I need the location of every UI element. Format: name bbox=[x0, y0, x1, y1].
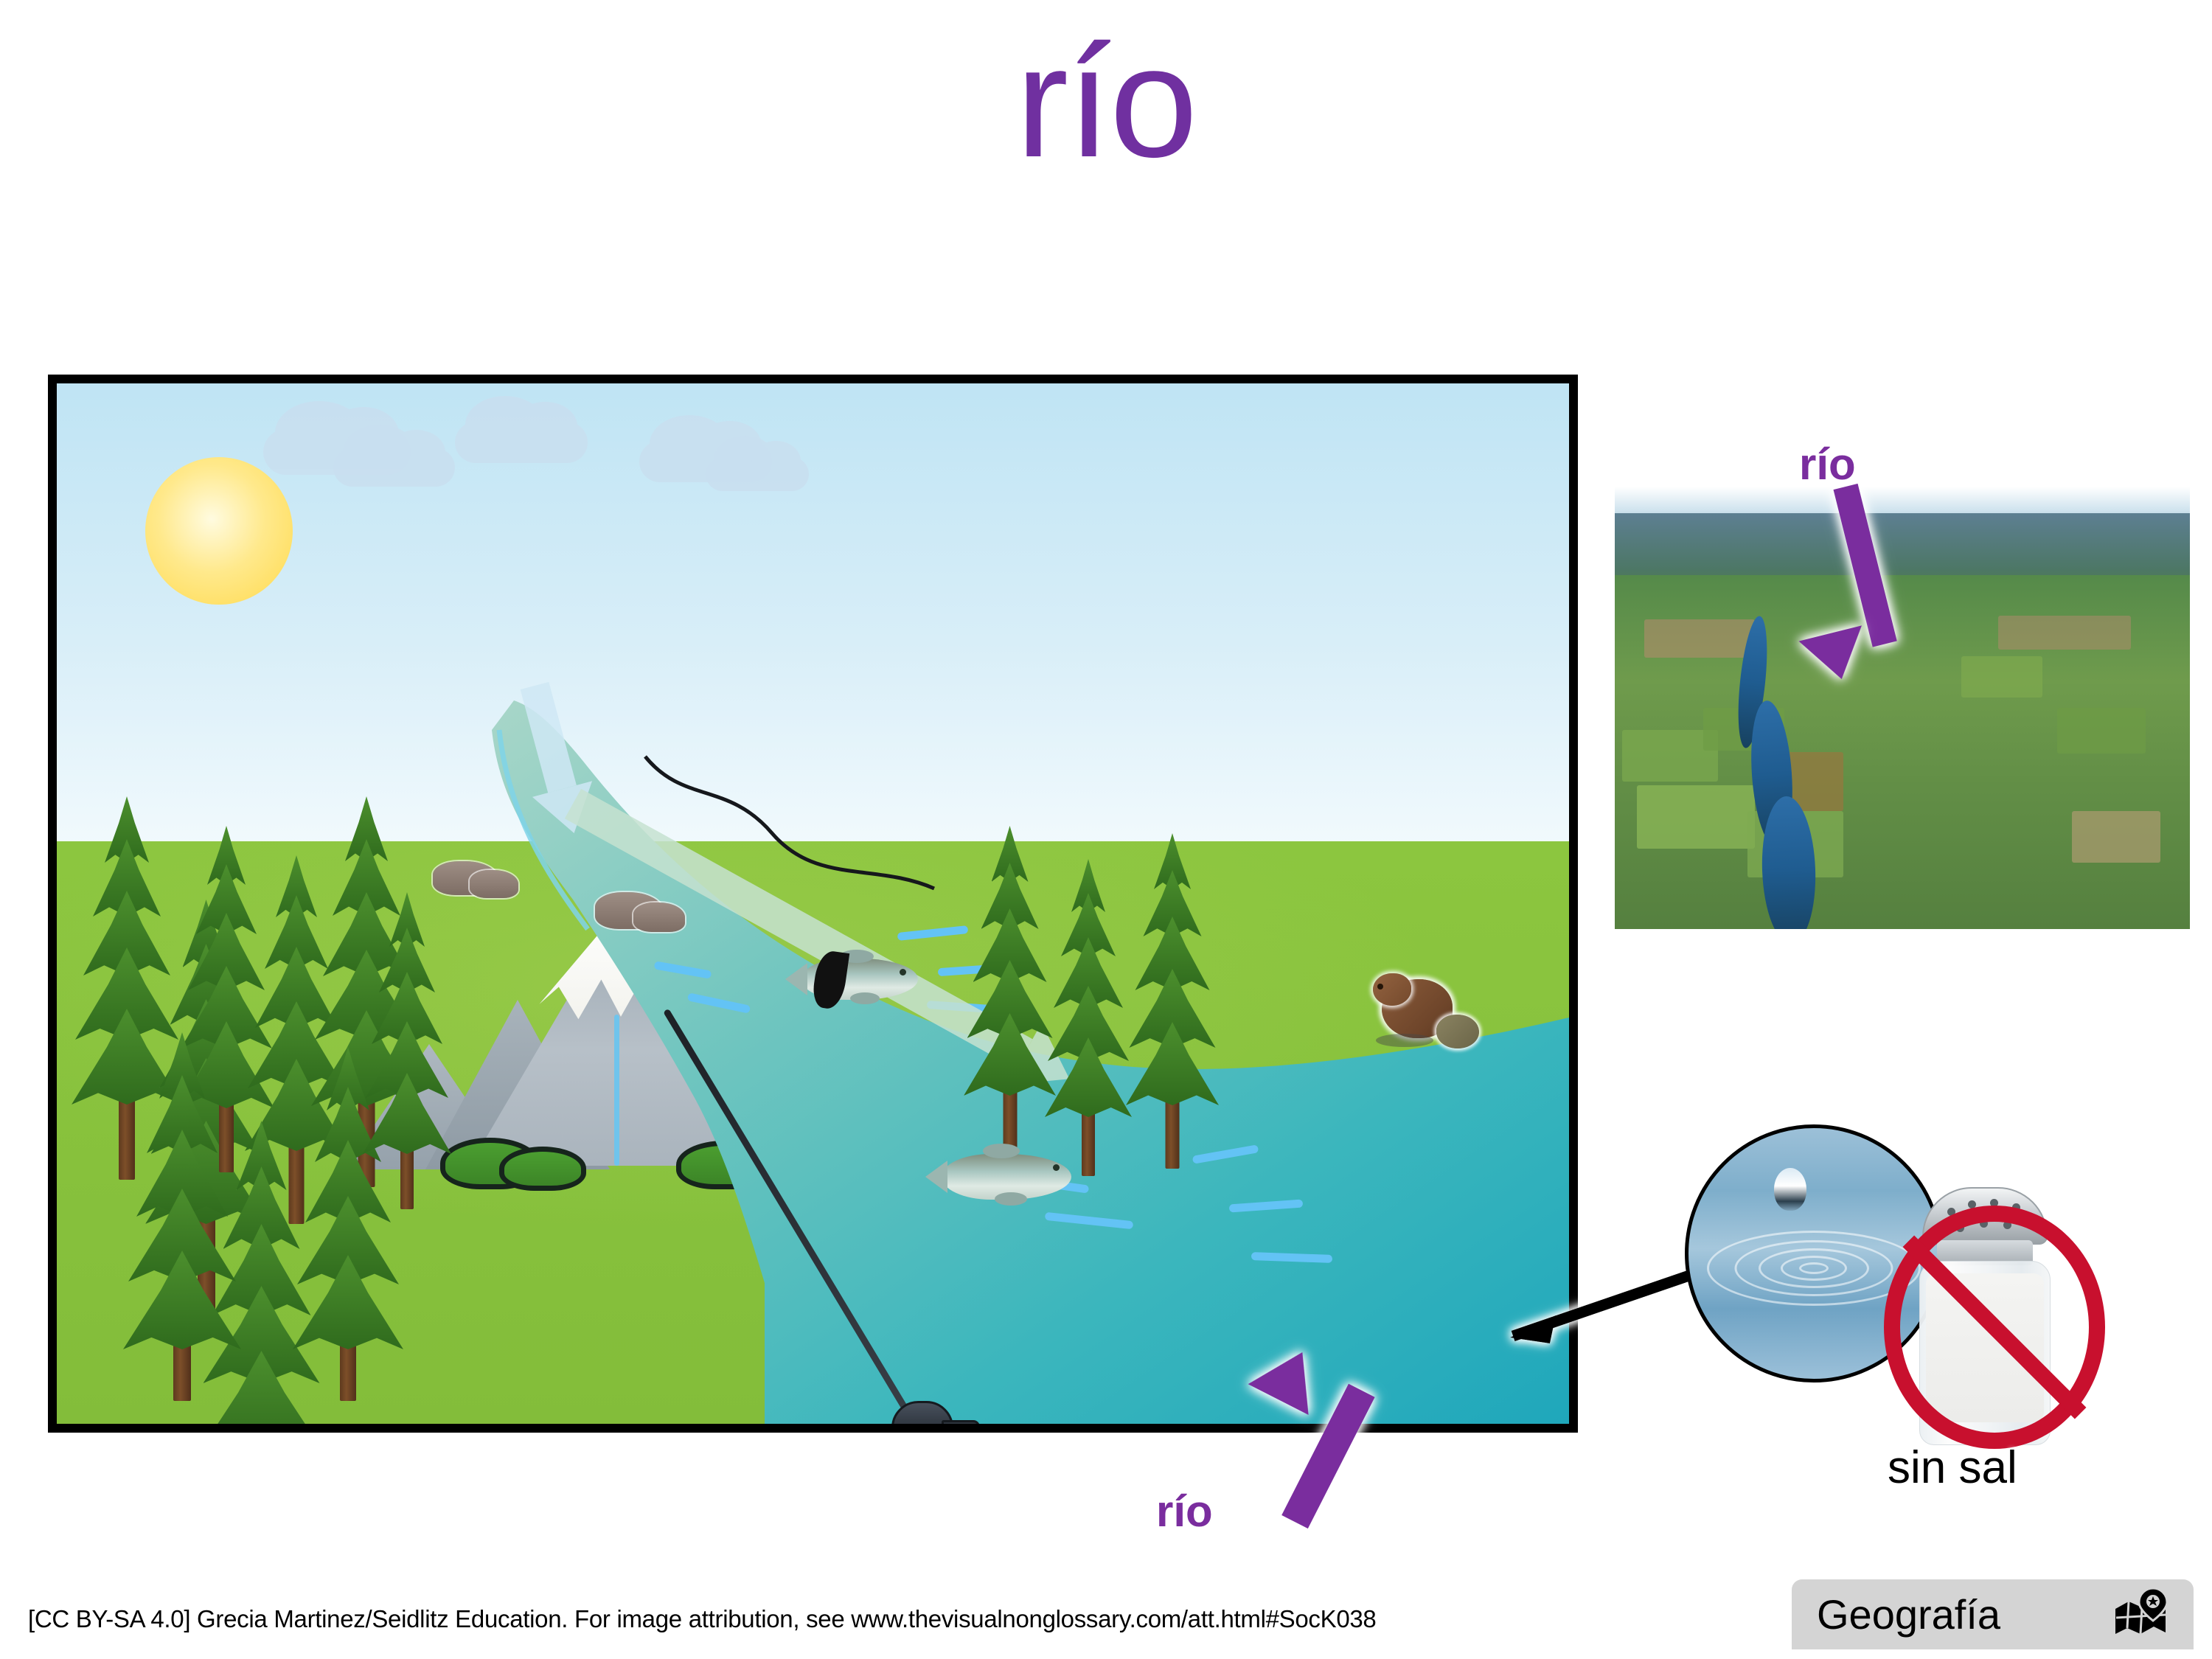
field-patch bbox=[2072, 811, 2160, 863]
page-title: río bbox=[0, 22, 2212, 181]
water-droplet bbox=[1774, 1168, 1806, 1211]
beaver bbox=[1366, 966, 1480, 1054]
bush bbox=[499, 1147, 586, 1191]
mountain-stream bbox=[614, 1015, 619, 1166]
fish-fin bbox=[983, 1144, 1020, 1158]
fish-fin bbox=[995, 1192, 1027, 1206]
village-cluster bbox=[1998, 616, 2131, 650]
sin-sal-label: sin sal bbox=[1888, 1441, 2017, 1494]
sun-core bbox=[145, 457, 293, 605]
category-badge: Geografía bbox=[1792, 1579, 2194, 1649]
field-patch bbox=[2057, 708, 2146, 754]
cloud-icon bbox=[455, 422, 588, 463]
rio-callout-arrow-illustration bbox=[1224, 1327, 1371, 1519]
village-cluster bbox=[1644, 619, 1755, 658]
pine-tree bbox=[363, 892, 451, 1209]
freshwater-pointer-arrow bbox=[1445, 1253, 1718, 1364]
pine-tree bbox=[123, 1032, 241, 1401]
pine-tree bbox=[1126, 833, 1219, 1169]
no-salt-prohibition-sign bbox=[1884, 1206, 2105, 1449]
river-landscape-illustration bbox=[48, 375, 1578, 1433]
map-pin-icon bbox=[2112, 1587, 2168, 1643]
rio-callout-label-photo: río bbox=[1799, 439, 1856, 490]
rock bbox=[470, 870, 518, 898]
attribution-text: [CC BY-SA 4.0] Grecia Martinez/Seidlitz … bbox=[28, 1605, 1377, 1633]
cloud-icon bbox=[706, 457, 809, 491]
field-patch bbox=[1961, 656, 2042, 698]
fish-eye bbox=[1053, 1164, 1060, 1171]
fisherman-cap-brim bbox=[942, 1420, 980, 1433]
cloud-icon bbox=[333, 448, 455, 487]
pine-tree bbox=[964, 826, 1056, 1158]
category-label: Geografía bbox=[1817, 1590, 2112, 1638]
pine-tree bbox=[1045, 859, 1132, 1176]
rio-callout-arrow-photo bbox=[1799, 487, 1947, 708]
rio-callout-label-illustration: río bbox=[1156, 1486, 1213, 1537]
fisherman bbox=[877, 1408, 1098, 1433]
slide-root: río bbox=[0, 0, 2212, 1659]
trout-fish bbox=[942, 1154, 1071, 1200]
field-patch bbox=[1637, 785, 1755, 849]
fishing-line bbox=[639, 752, 949, 1003]
fish-tail bbox=[925, 1161, 947, 1193]
